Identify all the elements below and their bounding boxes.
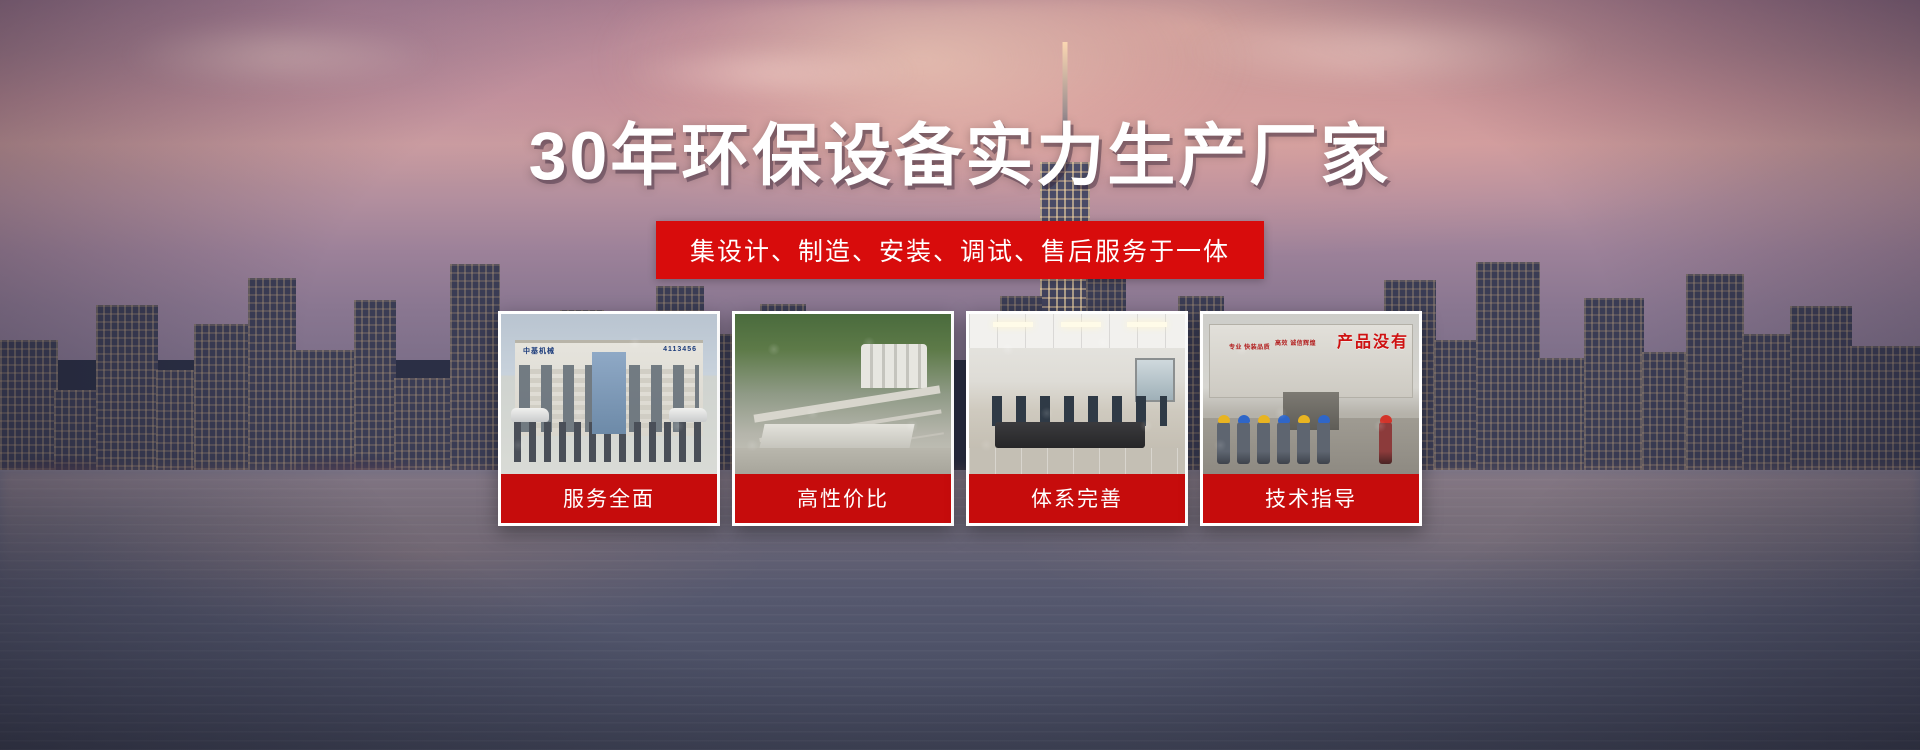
feature-card-row: 中基机械 4113456 服务全面 [498, 311, 1422, 526]
factory-slogan-1: 专业 快装品质 [1229, 344, 1270, 352]
office-floor [969, 448, 1185, 474]
banner-content: 30年环保设备实力生产厂家 集设计、制造、安装、调试、售后服务于一体 中基机械 … [0, 0, 1920, 750]
hard-hat-icon [1318, 415, 1330, 423]
feature-card-1[interactable]: 中基机械 4113456 服务全面 [498, 311, 720, 526]
storage-silos [861, 344, 927, 388]
hard-hat-icon [1380, 415, 1392, 423]
company-sign-text: 中基机械 [523, 346, 555, 356]
hard-hat-icon [1298, 415, 1310, 423]
card-photo-office-building: 中基机械 4113456 [501, 314, 717, 474]
ceiling-light [1127, 322, 1167, 327]
building-entrance [592, 352, 626, 434]
card-label-1: 服务全面 [501, 474, 717, 523]
card-photo-industrial-plant [735, 314, 951, 474]
card-label-3: 体系完善 [969, 474, 1185, 523]
card-photo-office-meeting [969, 314, 1185, 474]
conveyor-lines [754, 385, 941, 422]
card-label-2: 高性价比 [735, 474, 951, 523]
parked-car-right [669, 408, 707, 422]
worker-figure [1257, 422, 1270, 464]
office-ceiling [969, 314, 1185, 348]
feature-card-2[interactable]: 高性价比 [732, 311, 954, 526]
feature-card-3[interactable]: 体系完善 [966, 311, 1188, 526]
hard-hat-icon [1278, 415, 1290, 423]
factory-door [1283, 392, 1339, 430]
meeting-table [995, 422, 1145, 448]
hero-banner: 30年环保设备实力生产厂家 集设计、制造、安装、调试、售后服务于一体 中基机械 … [0, 0, 1920, 750]
factory-banner-text: 产品没有 [1337, 328, 1409, 352]
card-label-4: 技术指导 [1203, 474, 1419, 523]
hard-hat-icon [1238, 415, 1250, 423]
ceiling-light [993, 322, 1033, 327]
worker-figure [1297, 422, 1310, 464]
supervisor-figure [1379, 422, 1392, 464]
worker-figure [1217, 422, 1230, 464]
parked-car-left [511, 408, 549, 422]
worker-figure [1317, 422, 1330, 464]
card-photo-factory-workers: 产品没有 专业 快装品质 高效 诚信辉煌 [1203, 314, 1419, 474]
ceiling-light [1061, 322, 1101, 327]
worker-figure [1277, 422, 1290, 464]
feature-card-4[interactable]: 产品没有 专业 快装品质 高效 诚信辉煌 技术指导 [1200, 311, 1422, 526]
banner-subtitle-bar: 集设计、制造、安装、调试、售后服务于一体 [656, 221, 1264, 279]
factory-slogan-2: 高效 诚信辉煌 [1275, 340, 1316, 348]
banner-headline: 30年环保设备实力生产厂家 [529, 100, 1392, 199]
worker-figure [1237, 422, 1250, 464]
hard-hat-icon [1258, 415, 1270, 423]
plant-road [735, 448, 951, 474]
hard-hat-icon [1218, 415, 1230, 423]
company-phone-text: 4113456 [663, 346, 697, 353]
